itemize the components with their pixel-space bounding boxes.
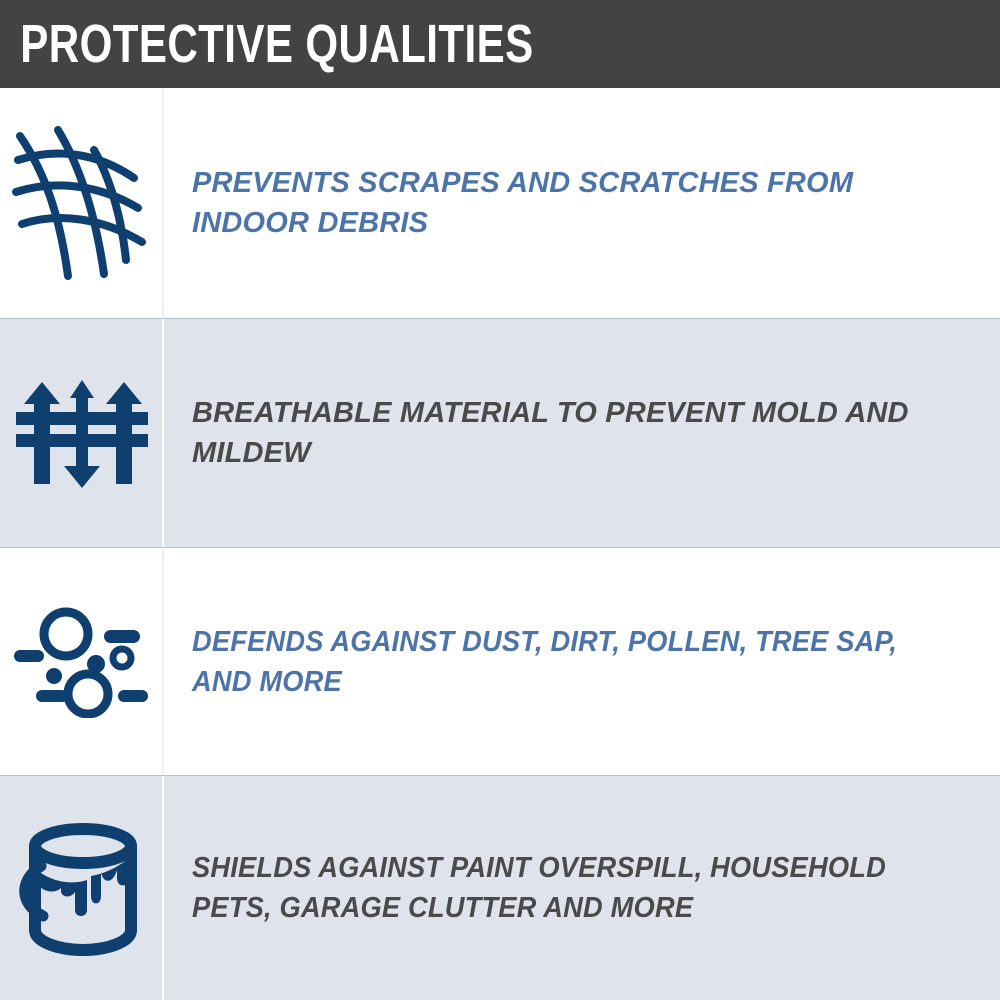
text-cell-scrapes: PREVENTS SCRAPES AND SCRATCHES FROM INDO… [164,88,1000,318]
paint-can-icon [17,818,147,958]
feature-text-scrapes: PREVENTS SCRAPES AND SCRATCHES FROM INDO… [192,163,970,243]
column-divider [162,776,164,1000]
feature-text-breathable: BREATHABLE MATERIAL TO PREVENT MOLD AND … [192,393,970,473]
icon-cell-paint [0,776,164,1000]
feature-row-scrapes: PREVENTS SCRAPES AND SCRATCHES FROM INDO… [0,88,1000,318]
column-divider [162,319,164,547]
protective-qualities-infographic: PROTECTIVE QUALITIES PREVENTS SCRAPES AN… [0,0,1000,1000]
page-title: PROTECTIVE QUALITIES [0,17,534,71]
icon-cell-breathable [0,319,164,547]
header-bar: PROTECTIVE QUALITIES [0,0,1000,88]
feature-text-dust: DEFENDS AGAINST DUST, DIRT, POLLEN, TREE… [192,622,923,702]
text-cell-paint: SHIELDS AGAINST PAINT OVERSPILL, HOUSEHO… [164,776,1000,1000]
feature-row-paint: SHIELDS AGAINST PAINT OVERSPILL, HOUSEHO… [0,775,1000,1000]
text-cell-breathable: BREATHABLE MATERIAL TO PREVENT MOLD AND … [164,319,1000,547]
icon-cell-dust [0,549,164,775]
feature-row-dust: DEFENDS AGAINST DUST, DIRT, POLLEN, TREE… [0,549,1000,775]
column-divider [162,549,164,775]
dust-particles-icon [12,606,152,718]
column-divider [162,88,164,318]
icon-cell-scrapes [0,88,164,318]
mesh-weave-icon [12,126,152,281]
text-cell-dust: DEFENDS AGAINST DUST, DIRT, POLLEN, TREE… [164,549,1000,775]
feature-row-breathable: BREATHABLE MATERIAL TO PREVENT MOLD AND … [0,318,1000,548]
airflow-breathable-icon [16,374,148,492]
feature-text-paint: SHIELDS AGAINST PAINT OVERSPILL, HOUSEHO… [192,848,923,928]
